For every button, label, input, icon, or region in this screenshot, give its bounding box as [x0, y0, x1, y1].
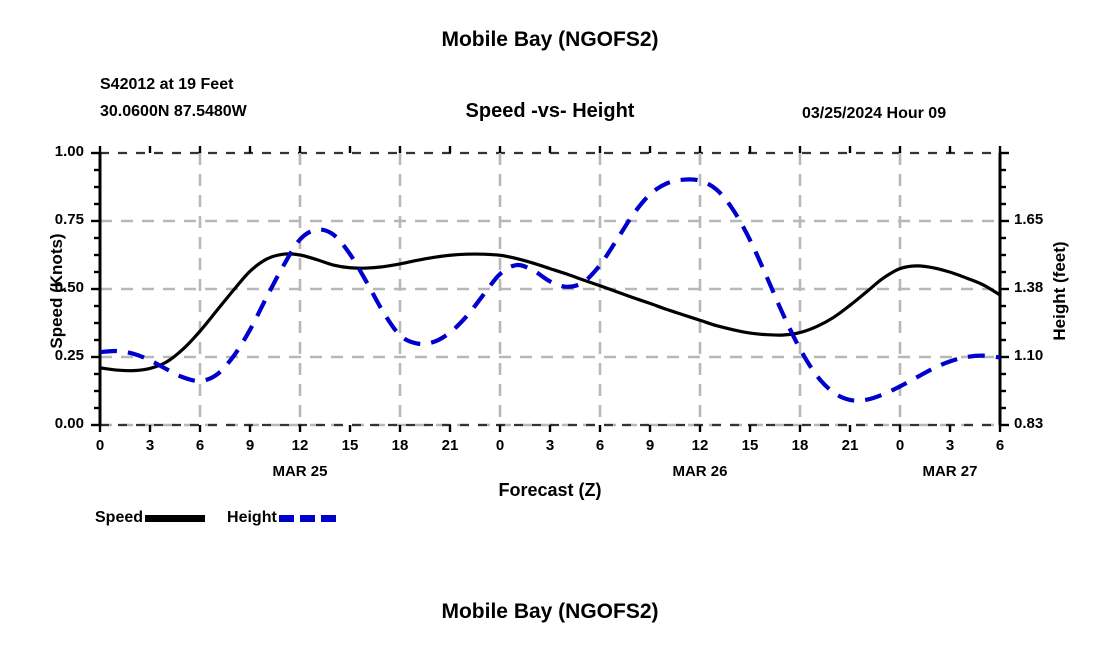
legend-entry-height: Height — [227, 509, 339, 527]
legend-label-height: Height — [227, 509, 277, 527]
plot-area — [0, 0, 1100, 650]
legend-label-speed: Speed — [95, 509, 143, 527]
legend-swatch-height-icon — [279, 515, 339, 522]
legend-spacer — [205, 518, 227, 519]
legend-swatch-speed-icon — [145, 515, 205, 522]
chart-canvas: Mobile Bay (NGOFS2) Speed -vs- Height S4… — [0, 0, 1100, 650]
legend-entry-speed: Speed — [95, 509, 205, 527]
chart-legend: Speed Height — [95, 506, 339, 530]
